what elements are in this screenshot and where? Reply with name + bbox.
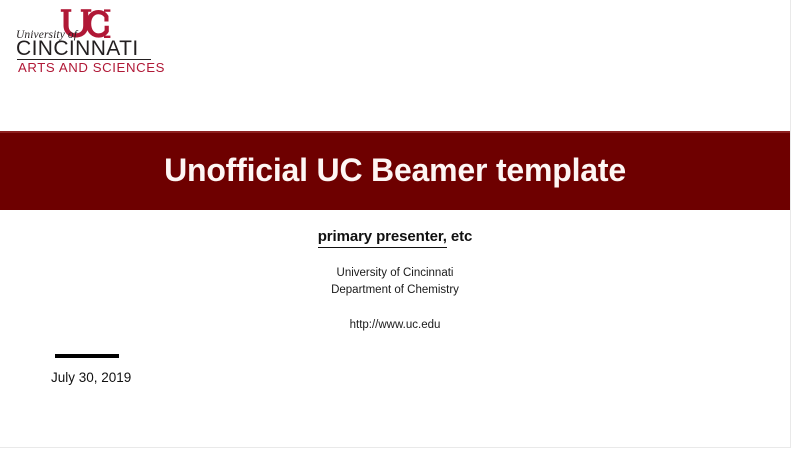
slide-date: July 30, 2019	[51, 370, 131, 385]
presenter-name-underlined: primary presenter,	[318, 228, 447, 248]
institute-block: University of Cincinnati Department of C…	[0, 265, 790, 299]
title-slide: University of CINCINNATI ARTS AND SCIENC…	[0, 0, 791, 448]
uc-arts-and-sciences-logo: University of CINCINNATI ARTS AND SCIENC…	[8, 8, 158, 74]
title-banner: Unofficial UC Beamer template	[0, 131, 790, 210]
date-divider	[55, 354, 119, 358]
institute-url[interactable]: http://www.uc.edu	[350, 319, 441, 331]
url-block: http://www.uc.edu	[0, 315, 790, 333]
slide-title: Unofficial UC Beamer template	[164, 152, 626, 189]
institute-line-department: Department of Chemistry	[0, 282, 790, 299]
author-block: primary presenter, etc	[0, 228, 790, 246]
institute-line-university: University of Cincinnati	[0, 265, 790, 282]
presenter-name: primary presenter, etc	[318, 228, 473, 245]
logo-cincinnati-text: CINCINNATI	[16, 38, 139, 59]
presenter-name-tail: etc	[447, 228, 472, 245]
logo-arts-and-sciences-text: ARTS AND SCIENCES	[18, 61, 165, 74]
